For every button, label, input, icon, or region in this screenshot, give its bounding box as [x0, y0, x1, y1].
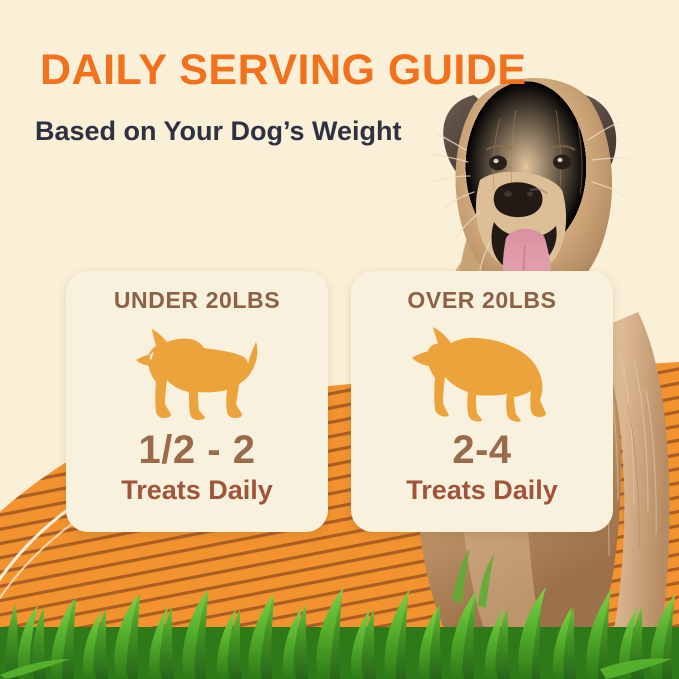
large-dog-silhouette-icon: [402, 326, 562, 422]
serving-guide-infographic: DAILY SERVING GUIDE Based on Your Dog’s …: [0, 0, 679, 679]
grass-photo: [0, 549, 679, 679]
card-unit: Treats Daily: [121, 475, 273, 506]
card-unit: Treats Daily: [406, 475, 558, 506]
page-title: DAILY SERVING GUIDE: [40, 46, 527, 95]
card-heading: UNDER 20LBS: [114, 287, 280, 314]
card-amount: 1/2 - 2: [139, 428, 256, 473]
small-dog-silhouette-icon: [122, 326, 272, 422]
page-subtitle: Based on Your Dog’s Weight: [35, 116, 402, 147]
serving-card-over-20lbs[interactable]: OVER 20LBS 2-4 Treats Daily: [351, 271, 613, 532]
card-heading: OVER 20LBS: [407, 287, 556, 314]
card-amount: 2-4: [452, 428, 511, 473]
serving-card-under-20lbs[interactable]: UNDER 20LBS 1/2 - 2 Treats Daily: [66, 271, 328, 532]
